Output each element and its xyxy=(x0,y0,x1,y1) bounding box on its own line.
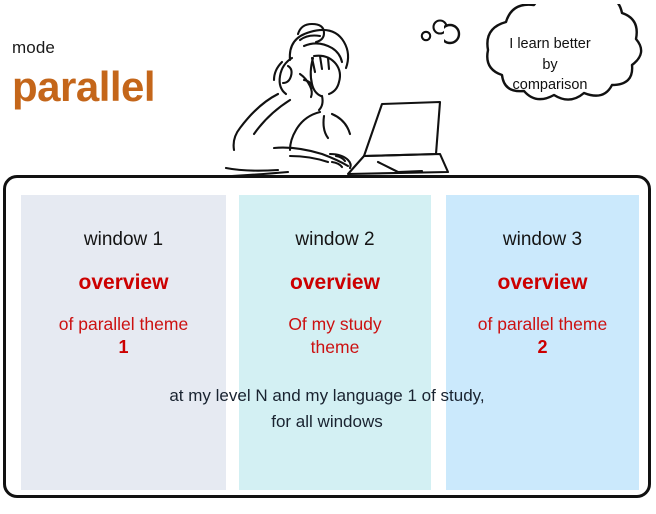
window-3-subtitle-line2: 2 xyxy=(537,337,547,357)
window-2-subtitle-line1: Of my study xyxy=(288,314,381,334)
window-1-subtitle: of parallel theme 1 xyxy=(21,313,226,359)
window-2-overview-label: overview xyxy=(239,271,431,295)
thought-bubble-text: I learn better by comparison xyxy=(470,34,630,96)
thought-line-1: I learn better xyxy=(470,34,630,55)
window-3-title: window 3 xyxy=(446,229,639,251)
window-2-column[interactable]: window 2 overview Of my study theme xyxy=(239,195,431,490)
window-3-subtitle-line1: of parallel theme xyxy=(478,314,607,334)
window-3-subtitle: of parallel theme 2 xyxy=(446,313,639,359)
mode-label: mode xyxy=(12,38,55,58)
thought-line-2: by xyxy=(470,55,630,76)
window-2-subtitle: Of my study theme xyxy=(239,313,431,359)
window-3-overview-label: overview xyxy=(446,271,639,295)
window-1-title: window 1 xyxy=(21,229,226,251)
window-2-subtitle-line2: theme xyxy=(311,337,360,357)
windows-panel: window 1 overview of parallel theme 1 wi… xyxy=(3,175,651,498)
window-1-subtitle-line2: 1 xyxy=(118,337,128,357)
thought-line-3: comparison xyxy=(470,75,630,96)
person-at-laptop-thinking-illustration xyxy=(212,0,452,176)
window-3-column[interactable]: window 3 overview of parallel theme 2 xyxy=(446,195,639,490)
window-2-title: window 2 xyxy=(239,229,431,251)
window-1-subtitle-line1: of parallel theme xyxy=(59,314,188,334)
window-1-overview-label: overview xyxy=(21,271,226,295)
window-1-column[interactable]: window 1 overview of parallel theme 1 xyxy=(21,195,226,490)
mode-value: parallel xyxy=(12,66,155,108)
header: mode parallel xyxy=(0,0,656,175)
